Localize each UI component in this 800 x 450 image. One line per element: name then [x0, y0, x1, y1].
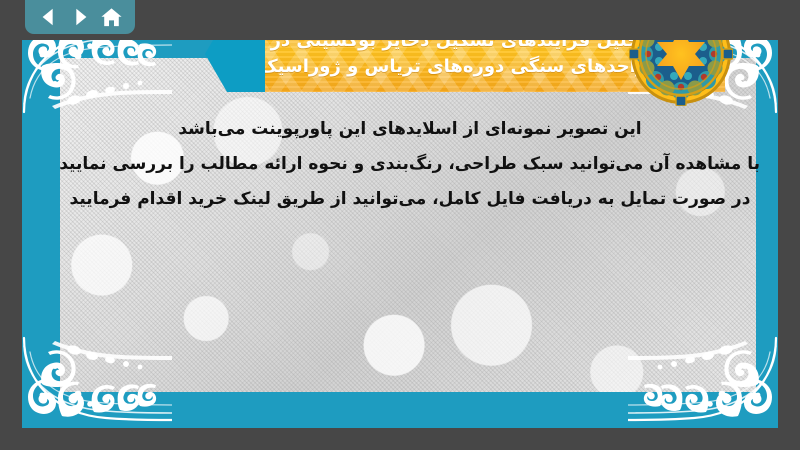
slide-content-area [60, 58, 756, 392]
home-icon [100, 6, 123, 29]
next-button[interactable] [68, 5, 92, 29]
slide-viewer: این تصویر نمونه‌ای از اسلایدهای این پاور… [0, 0, 800, 450]
triangle-right-icon [69, 6, 91, 28]
body-line-1: این تصویر نمونه‌ای از اسلایدهای این پاور… [60, 112, 760, 147]
title-line-2: واحدهای سنگی دوره‌های تریاس و ژوراسیک [273, 54, 647, 80]
home-button[interactable] [99, 5, 123, 29]
body-line-2: با مشاهده آن می‌توانید سبک طراحی، رنگ‌بن… [60, 147, 760, 182]
previous-button[interactable] [37, 5, 61, 29]
body-line-3: در صورت تمایل به دریافت فایل کامل، می‌تو… [60, 182, 760, 217]
navigation-bar [25, 0, 135, 34]
triangle-left-icon [38, 6, 60, 28]
slide-body-text: این تصویر نمونه‌ای از اسلایدهای این پاور… [60, 112, 760, 217]
